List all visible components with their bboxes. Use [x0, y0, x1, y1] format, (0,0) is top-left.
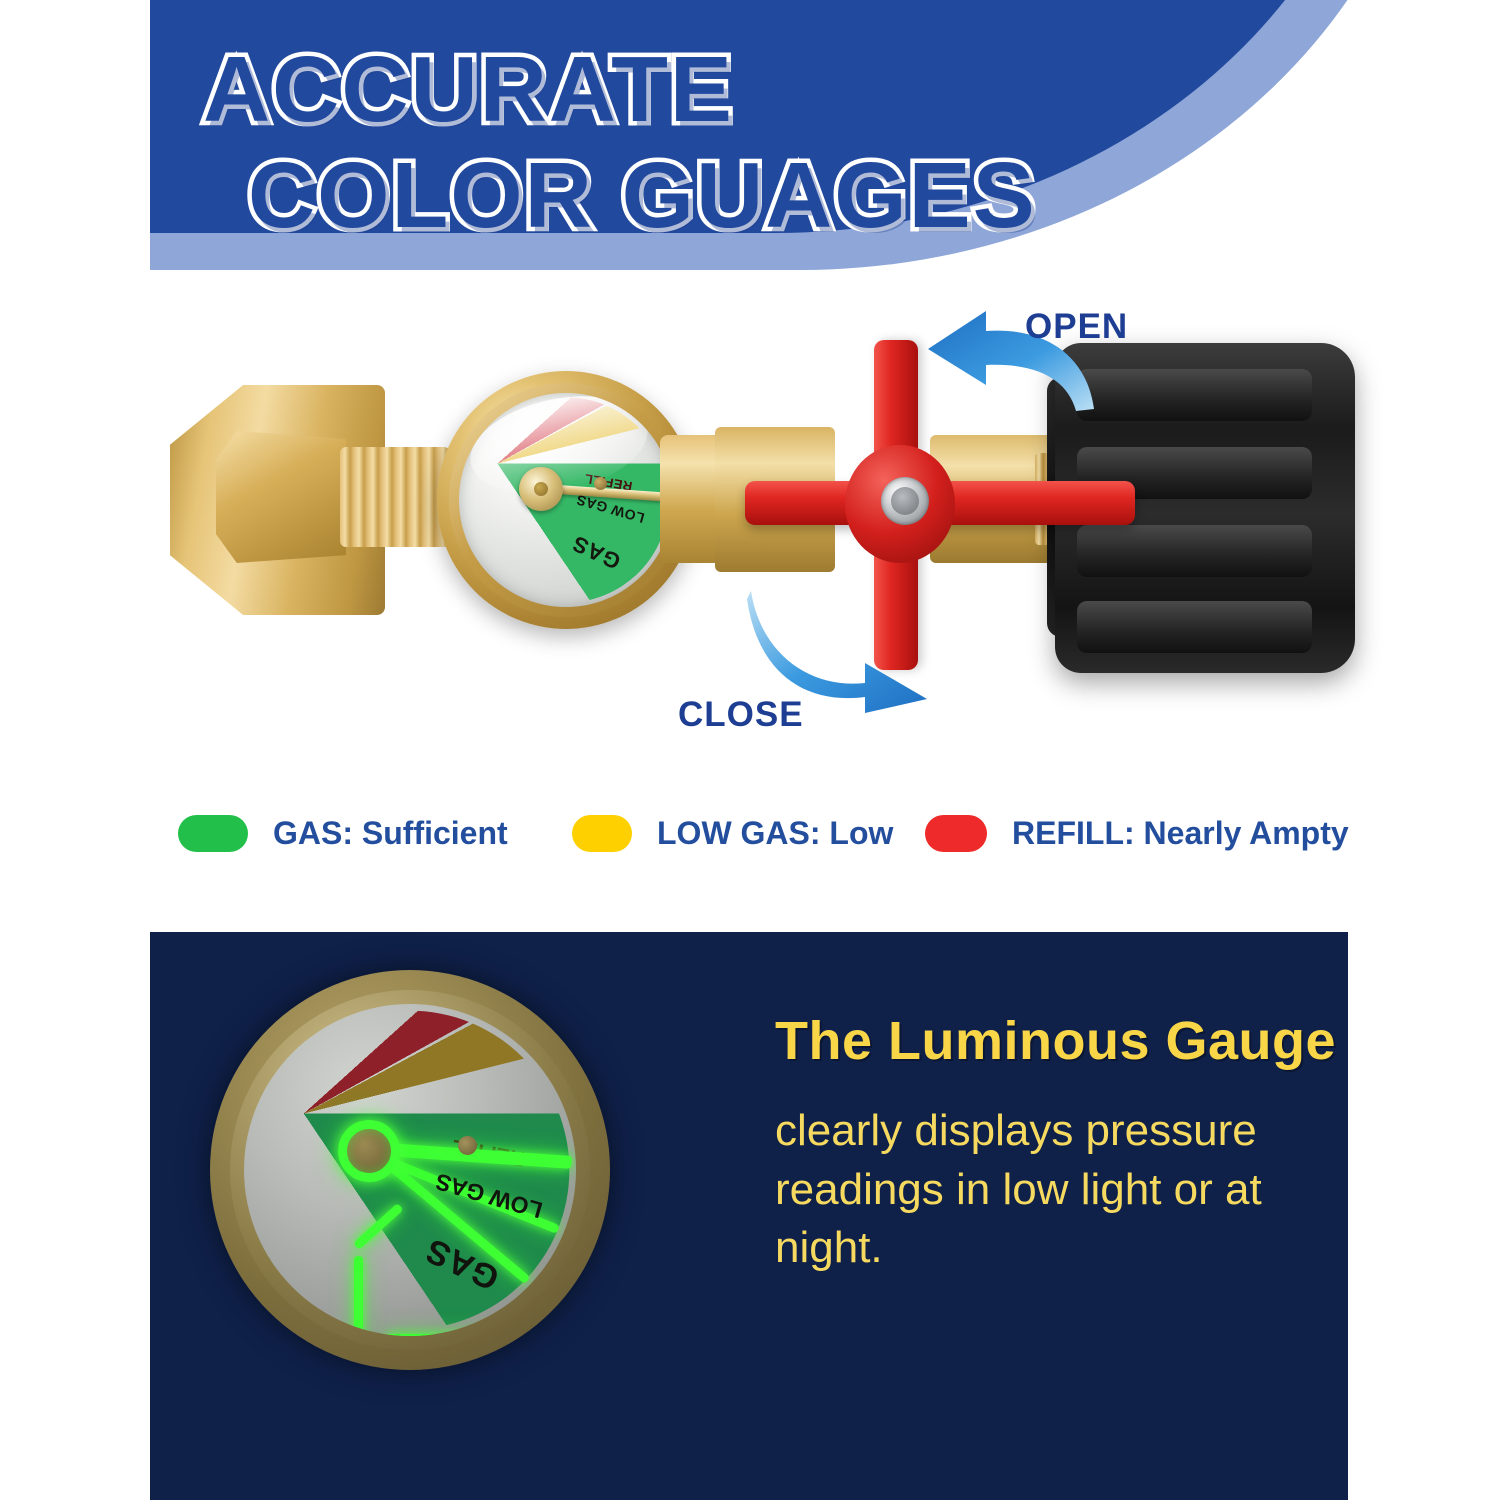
luminous-body-text: clearly displays pressure readings in lo…	[775, 1102, 1315, 1278]
gauge-face-screw	[594, 477, 607, 490]
pressure-gauge: GAS LOW GAS REFILL	[437, 371, 695, 629]
page-title-line-1: ACCURATE	[203, 36, 734, 143]
luminous-needle-pivot	[338, 1120, 400, 1182]
luminous-gauge-dial-face: GAS LOW GAS REFILL	[244, 1004, 576, 1336]
qcc-grip-rib	[1077, 369, 1312, 421]
brass-threaded-nipple	[340, 447, 450, 547]
legend-label-gas: GAS: Sufficient	[273, 815, 508, 852]
valve-hub-screw-icon	[881, 477, 929, 525]
header-title-block: ACCURATE COLOR GUAGES	[0, 0, 1500, 300]
product-illustration: GAS LOW GAS REFILL	[0, 285, 1500, 765]
callout-close-label: CLOSE	[678, 695, 804, 735]
qcc-grip-rib	[1077, 525, 1312, 577]
legend-label-low-gas: LOW GAS: Low	[657, 815, 893, 852]
luminous-text-block: The Luminous Gauge clearly displays pres…	[775, 1010, 1315, 1278]
infographic-page: ACCURATE COLOR GUAGES GAS LOW GAS REFILL	[0, 0, 1500, 1500]
legend-item-low-gas: LOW GAS: Low	[572, 815, 893, 852]
qcc-grip-rib	[1077, 601, 1312, 653]
gauge-needle-pivot	[519, 467, 563, 511]
gauge-pivot-center	[534, 482, 548, 496]
page-title-line-2: COLOR GUAGES	[248, 142, 1037, 249]
callout-open-label: OPEN	[1025, 307, 1128, 347]
luminous-gauge-panel: GAS LOW GAS REFILL The Luminous Gauge cl…	[150, 932, 1348, 1500]
luminous-pressure-gauge: GAS LOW GAS REFILL	[210, 970, 610, 1370]
legend-swatch-low-gas	[572, 815, 632, 852]
brass-square-boss	[216, 431, 346, 563]
luminous-heading: The Luminous Gauge	[775, 1010, 1315, 1072]
legend-label-refill: REFILL: Nearly Ampty	[1012, 815, 1349, 852]
page-title-line-1-text: ACCURATE	[203, 37, 734, 141]
legend-swatch-gas	[178, 815, 248, 852]
luminous-boundary-gas-arc	[386, 1334, 571, 1336]
page-title-line-2-text: COLOR GUAGES	[248, 143, 1037, 247]
legend-swatch-refill	[925, 815, 987, 852]
gauge-dial-face: GAS LOW GAS REFILL	[459, 393, 673, 607]
legend-item-gas: GAS: Sufficient	[178, 815, 508, 852]
luminous-face-screw	[458, 1136, 477, 1155]
luminous-boundary-gas-left	[354, 1256, 363, 1336]
color-legend: GAS: Sufficient LOW GAS: Low REFILL: Nea…	[0, 805, 1500, 875]
legend-item-refill: REFILL: Nearly Ampty	[925, 815, 1349, 852]
